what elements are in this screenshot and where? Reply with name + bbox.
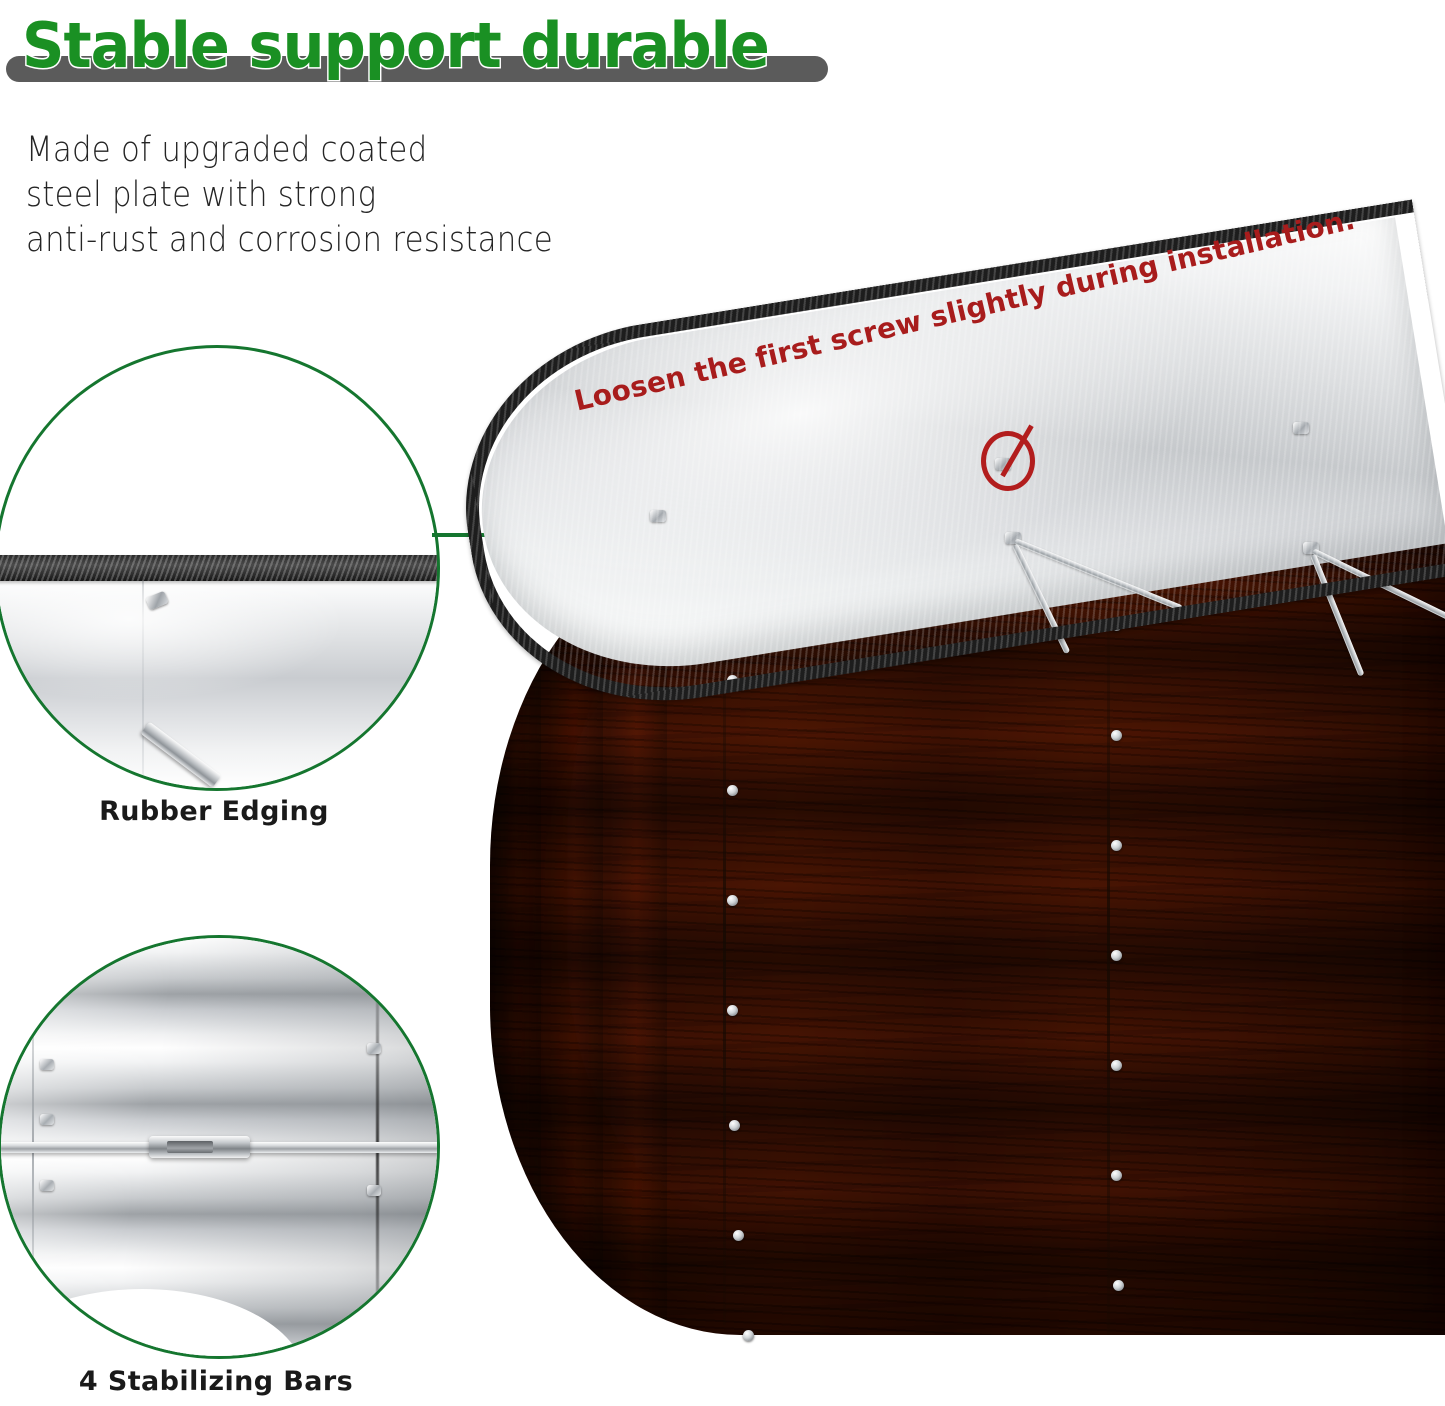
screw-icon (1111, 950, 1122, 961)
screw-icon (367, 1185, 381, 1196)
product-image (455, 330, 1445, 1406)
screw-icon (367, 1043, 381, 1054)
screw-highlight-ellipse (981, 431, 1035, 491)
screw-icon (1111, 1060, 1122, 1071)
infographic-canvas: Stable support durable Made of upgraded … (0, 0, 1445, 1406)
rubber-strip (0, 555, 437, 581)
screw-icon (743, 1330, 754, 1341)
screw-icon (1111, 840, 1122, 851)
rubber-edging-photo (0, 348, 437, 788)
title-block: Stable support durable (0, 8, 900, 88)
stabilizing-bars-label: 4 Stabilizing Bars (0, 1366, 434, 1397)
panel-seam (1107, 545, 1110, 1335)
stabilizing-bars-circle (0, 935, 440, 1359)
page-title: Stable support durable (22, 10, 769, 82)
screw-icon (40, 1059, 54, 1070)
screw-icon (1111, 730, 1122, 741)
turnbuckle-icon (149, 1136, 249, 1158)
body-rib (495, 545, 541, 1335)
screw-icon (727, 895, 738, 906)
rubber-edging-circle (0, 345, 440, 791)
screw-icon (733, 1230, 744, 1241)
rubber-edging-label: Rubber Edging (0, 796, 434, 827)
subtitle-line-2: steel plate with strong (26, 173, 748, 218)
screw-icon (1113, 1280, 1124, 1291)
screw-icon (40, 1180, 54, 1191)
raised-garden-bed (455, 330, 1445, 1406)
screw-icon (1111, 1170, 1122, 1181)
subtitle-line-3: anti-rust and corrosion resistance (26, 218, 748, 263)
stabilizing-bars-photo (1, 938, 437, 1356)
screw-icon (727, 785, 738, 796)
metal-sheen (0, 577, 437, 788)
subtitle-block: Made of upgraded coated steel plate with… (26, 128, 748, 263)
screw-icon (40, 1114, 54, 1125)
screw-icon (727, 1005, 738, 1016)
screw-icon (729, 1120, 740, 1131)
subtitle-line-1: Made of upgraded coated (26, 128, 748, 173)
